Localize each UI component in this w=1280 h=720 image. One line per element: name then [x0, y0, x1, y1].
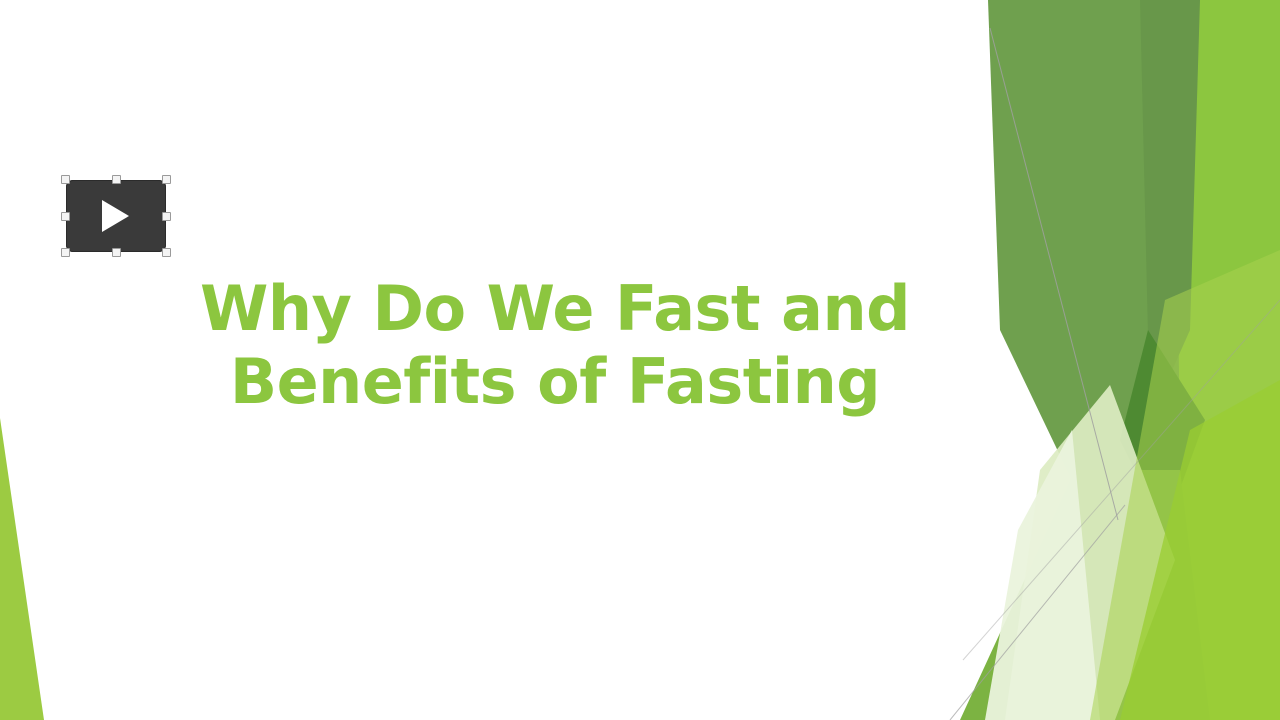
- decor-hairline-bottom: [950, 505, 1125, 720]
- video-frame[interactable]: [66, 180, 166, 252]
- resize-handle-w[interactable]: [61, 212, 70, 221]
- play-icon[interactable]: [102, 200, 129, 232]
- decor-hairline-lower: [963, 300, 1280, 660]
- video-placeholder-object[interactable]: [66, 180, 166, 252]
- decor-shape-olive-dark: [1140, 0, 1200, 420]
- slide-canvas: Why Do We Fast and Benefits of Fasting: [0, 0, 1280, 720]
- decor-shape-lime-overlay: [1090, 250, 1280, 720]
- title-line-2: Benefits of Fasting: [150, 345, 960, 418]
- decor-shape-bright-base: [1030, 0, 1280, 720]
- decor-shape-olive-band: [988, 0, 1180, 560]
- resize-handle-s[interactable]: [112, 248, 121, 257]
- decor-shape-pale-upper: [1005, 385, 1175, 720]
- decor-shape-mid-green-sweep: [960, 470, 1210, 720]
- resize-handle-ne[interactable]: [162, 175, 171, 184]
- decor-hairline-top: [990, 28, 1118, 520]
- resize-handle-n[interactable]: [112, 175, 121, 184]
- resize-handle-e[interactable]: [162, 212, 171, 221]
- title-line-1: Why Do We Fast and: [150, 272, 960, 345]
- slide-title[interactable]: Why Do We Fast and Benefits of Fasting: [150, 272, 960, 418]
- resize-handle-nw[interactable]: [61, 175, 70, 184]
- decor-shape-very-pale: [985, 430, 1100, 720]
- resize-handle-sw[interactable]: [61, 248, 70, 257]
- resize-handle-se[interactable]: [162, 248, 171, 257]
- decor-shape-lime-bottom: [1120, 380, 1280, 720]
- decor-shape-deep-green: [1120, 330, 1205, 530]
